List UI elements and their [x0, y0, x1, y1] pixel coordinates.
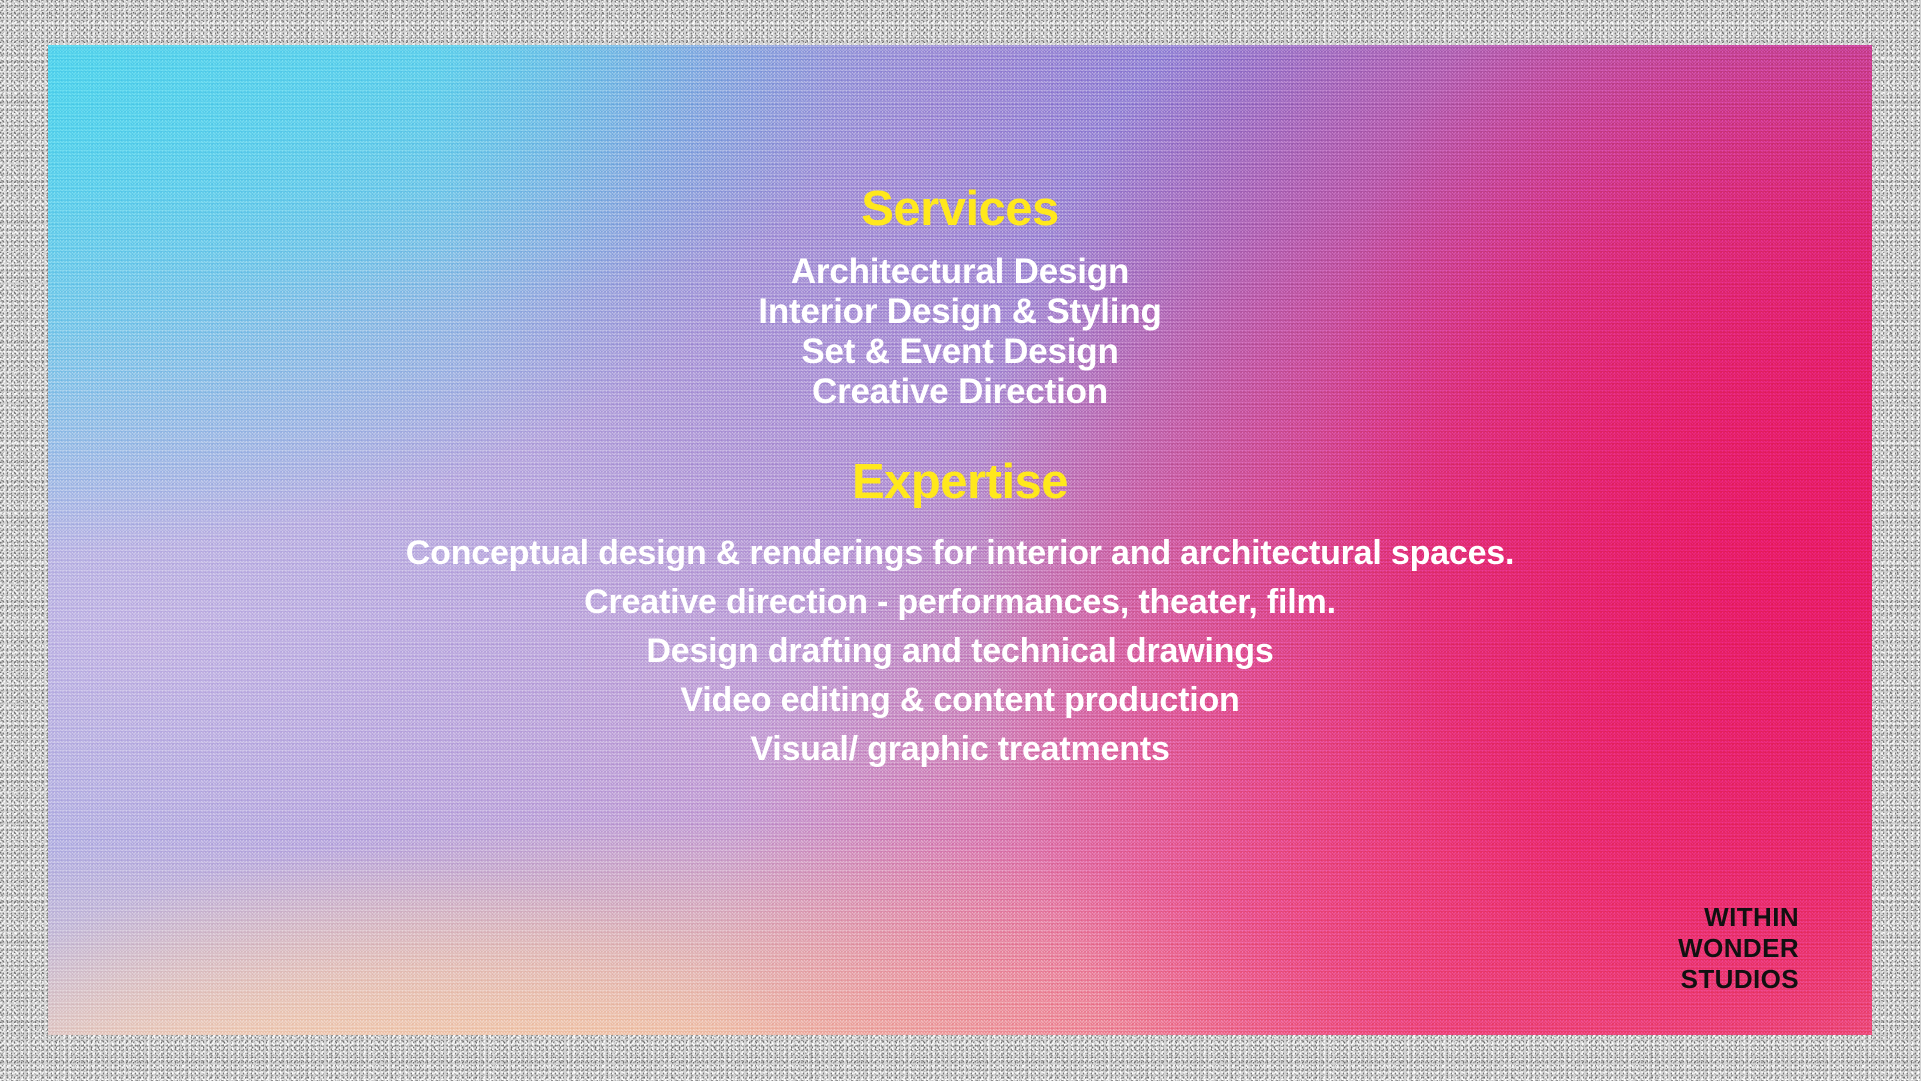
logo-line: WITHIN	[1678, 902, 1799, 933]
slide-canvas: Services Architectural Design Interior D…	[0, 0, 1921, 1081]
services-item: Creative Direction	[48, 372, 1872, 412]
logo-line: WONDER	[1678, 933, 1799, 964]
services-item: Interior Design & Styling	[48, 292, 1872, 332]
expertise-heading: Expertise	[48, 458, 1872, 507]
services-item: Set & Event Design	[48, 332, 1872, 372]
expertise-item: Visual/ graphic treatments	[48, 725, 1872, 774]
expertise-item: Design drafting and technical drawings	[48, 627, 1872, 676]
studio-logo-wordmark: WITHIN WONDER STUDIOS	[1678, 902, 1799, 995]
gradient-artwork-panel: Services Architectural Design Interior D…	[48, 45, 1872, 1035]
expertise-item: Video editing & content production	[48, 676, 1872, 725]
services-item: Architectural Design	[48, 252, 1872, 292]
expertise-item: Conceptual design & renderings for inter…	[48, 529, 1872, 578]
services-heading: Services	[48, 185, 1872, 234]
slide-content: Services Architectural Design Interior D…	[48, 45, 1872, 1035]
logo-line: STUDIOS	[1678, 964, 1799, 995]
expertise-list: Conceptual design & renderings for inter…	[48, 529, 1872, 774]
services-list: Architectural Design Interior Design & S…	[48, 252, 1872, 412]
expertise-item: Creative direction - performances, theat…	[48, 578, 1872, 627]
